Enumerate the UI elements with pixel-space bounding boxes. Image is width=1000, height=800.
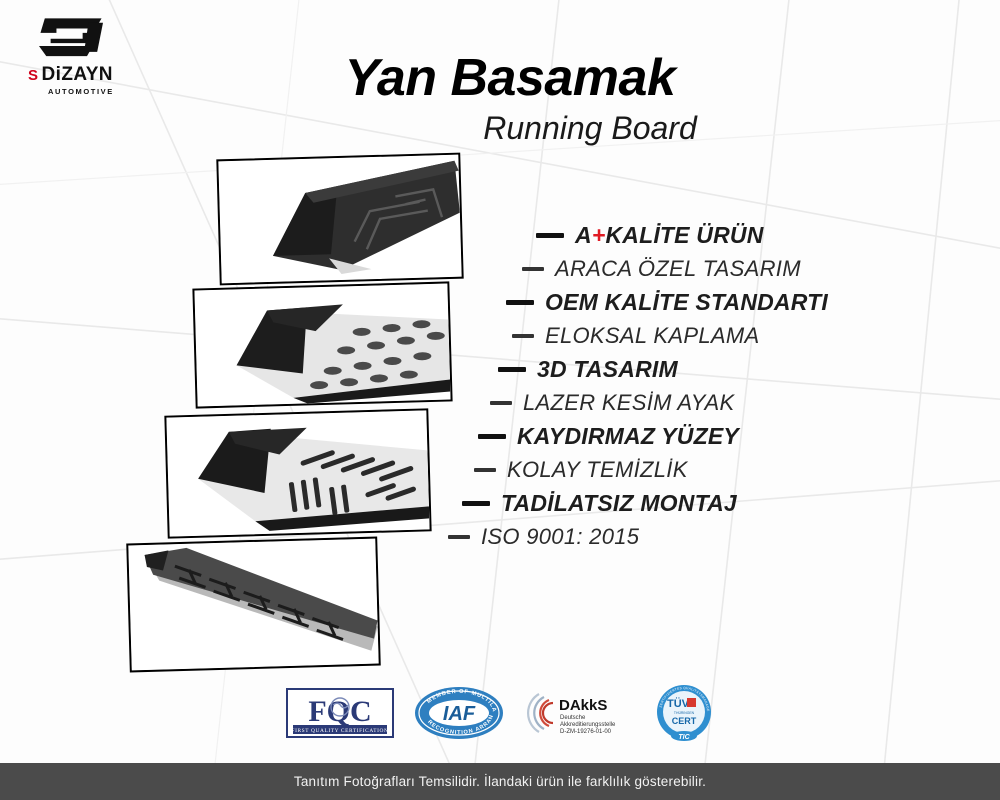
running-board-slotted-silver [166,410,429,536]
footer-disclaimer: Tanıtım Fotoğrafları Temsilidir. İlandak… [294,774,706,789]
fqc-subtitle: FIRST QUALITY CERTIFICATION [291,728,388,734]
product-shot-1 [216,153,463,286]
feature-label-3: OEM KALİTE STANDARTI [545,289,828,316]
feature-label-7: KAYDIRMAZ YÜZEY [517,423,739,450]
feature-label-9: TADİLATSIZ MONTAJ [501,490,737,517]
bullet-dash-icon [462,501,490,506]
logo-prefix: S [28,67,38,84]
dakks-line1: Deutsche [560,715,586,721]
feature-list: A+KALİTE ÜRÜN ARACA ÖZEL TASARIM OEM KAL… [440,222,910,550]
bullet-dash-icon [448,535,470,539]
fqc-badge: FQC FIRST QUALITY CERTIFICATION [285,687,395,739]
feature-item-4: ELOKSAL KAPLAMA [512,323,910,349]
tuv-title: TÜV [667,697,690,710]
s-monogram-icon [34,14,108,62]
feature-label-6: LAZER KESİM AYAK [523,390,734,416]
certification-badges: FQC FIRST QUALITY CERTIFICATION IAF MEMB… [285,682,715,744]
feature-label-10: ISO 9001: 2015 [481,524,639,550]
page-subtitle: Running Board [380,112,800,144]
bullet-dash-icon [474,468,496,472]
dakks-badge: DAkkS Deutsche Akkreditierungsstelle D-Z… [523,688,635,738]
running-board-rubber-tread [128,539,378,671]
iaf-title: IAF [443,703,476,725]
feature-label-4: ELOKSAL KAPLAMA [545,323,759,349]
product-shot-3 [164,408,431,538]
fqc-title: FQC [308,695,371,728]
bullet-dash-icon [490,401,512,405]
footer-bar: Tanıtım Fotoğrafları Temsilidir. İlandak… [0,763,1000,800]
bullet-dash-icon [522,267,544,271]
tuv-badge: TÜV THÜRINGEN CERT ZERTIFIZIERTES QUALIT… [653,683,715,743]
iaf-badge: IAF MEMBER OF MULTILATERAL RECOGNITION A… [413,685,505,741]
product-gallery [118,152,468,672]
feature-label-5: 3D TASARIM [537,356,678,383]
feature-item-1: A+KALİTE ÜRÜN [536,222,910,249]
product-shot-4 [126,537,381,673]
dakks-line2: Akkreditierungsstelle [560,722,616,728]
dakks-title: DAkkS [559,697,607,714]
bullet-dash-icon [506,300,534,305]
feature-item-7: KAYDIRMAZ YÜZEY [478,423,910,450]
feature-label-8: KOLAY TEMİZLİK [507,457,688,483]
running-board-perforated-silver [194,283,450,406]
feature-item-9: TADİLATSIZ MONTAJ [462,490,910,517]
feature-label-1: A+KALİTE ÜRÜN [575,222,764,249]
bullet-dash-icon [478,434,506,439]
feature-item-3: OEM KALİTE STANDARTI [506,289,910,316]
dakks-line3: D-ZM-19276-01-00 [560,729,612,735]
logo-name: DiZAYN [42,64,113,86]
page-title: Yan Basamak [300,52,720,104]
feature-item-10: ISO 9001: 2015 [448,524,910,550]
feature-item-8: KOLAY TEMİZLİK [474,457,910,483]
running-board-black-tread [218,155,461,284]
logo-subtitle: AUTOMOTIVE [48,87,156,96]
feature-item-2: ARACA ÖZEL TASARIM [522,256,910,282]
promo-page: S DiZAYN AUTOMOTIVE Yan Basamak Running … [0,0,1000,800]
tuv-sub: THÜRINGEN [674,711,695,715]
feature-label-2: ARACA ÖZEL TASARIM [555,256,801,282]
feature-item-5: 3D TASARIM [498,356,910,383]
bullet-dash-icon [498,367,526,372]
feature-item-6: LAZER KESİM AYAK [490,390,910,416]
bullet-dash-icon [536,233,564,238]
brand-logo: S DiZAYN AUTOMOTIVE [26,14,156,96]
tuv-cert: CERT [672,716,697,726]
tuv-mark: TIC [678,734,690,741]
bullet-dash-icon [512,334,534,338]
product-shot-2 [192,281,452,408]
